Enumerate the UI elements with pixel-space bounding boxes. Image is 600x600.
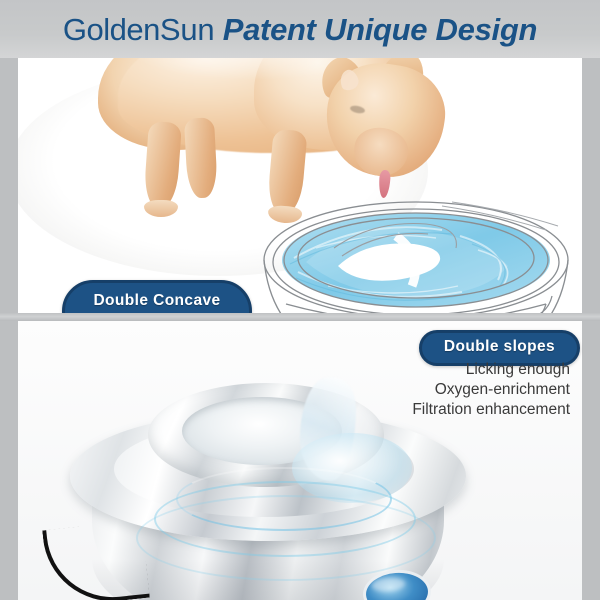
cat-paw-front xyxy=(144,200,178,217)
caption-line-2: Oxygen-enrichment xyxy=(330,380,570,400)
caption-line-1: Licking enough xyxy=(330,360,570,380)
cat-leg-mid xyxy=(184,117,218,198)
brand-name-golden: Golden xyxy=(63,12,160,47)
power-cord xyxy=(42,520,150,600)
logo-glare xyxy=(371,576,406,592)
badge-double-concave: Double Concave Water Places xyxy=(62,280,252,313)
badge-line-1: Double Concave xyxy=(71,291,243,311)
brand-name-sun: Sun xyxy=(160,12,215,47)
cat-leg-front xyxy=(143,121,182,209)
caption-line-3: Filtration enhancement xyxy=(330,400,570,420)
caption-benefits-list: Licking enough Oxygen-enrichment Filtrat… xyxy=(330,360,570,419)
water-ripple-3 xyxy=(136,495,436,581)
fountain-line-drawing xyxy=(246,200,582,313)
header-tagline: Patent Unique Design xyxy=(214,12,537,47)
panel-top-double-concave: Double Concave Water Places Good for ton… xyxy=(18,58,582,313)
header-banner: GoldenSun Patent Unique Design xyxy=(0,0,600,58)
cat-tongue xyxy=(378,170,391,199)
panel-divider xyxy=(0,313,600,321)
top-scene-illustration: Double Concave Water Places Good for ton… xyxy=(18,58,582,313)
fountain-svg xyxy=(246,200,582,313)
badge-line-1: Double slopes xyxy=(426,338,573,357)
page-title: GoldenSun Patent Unique Design xyxy=(63,14,537,45)
product-infographic: GoldenSun Patent Unique Design xyxy=(0,0,600,600)
